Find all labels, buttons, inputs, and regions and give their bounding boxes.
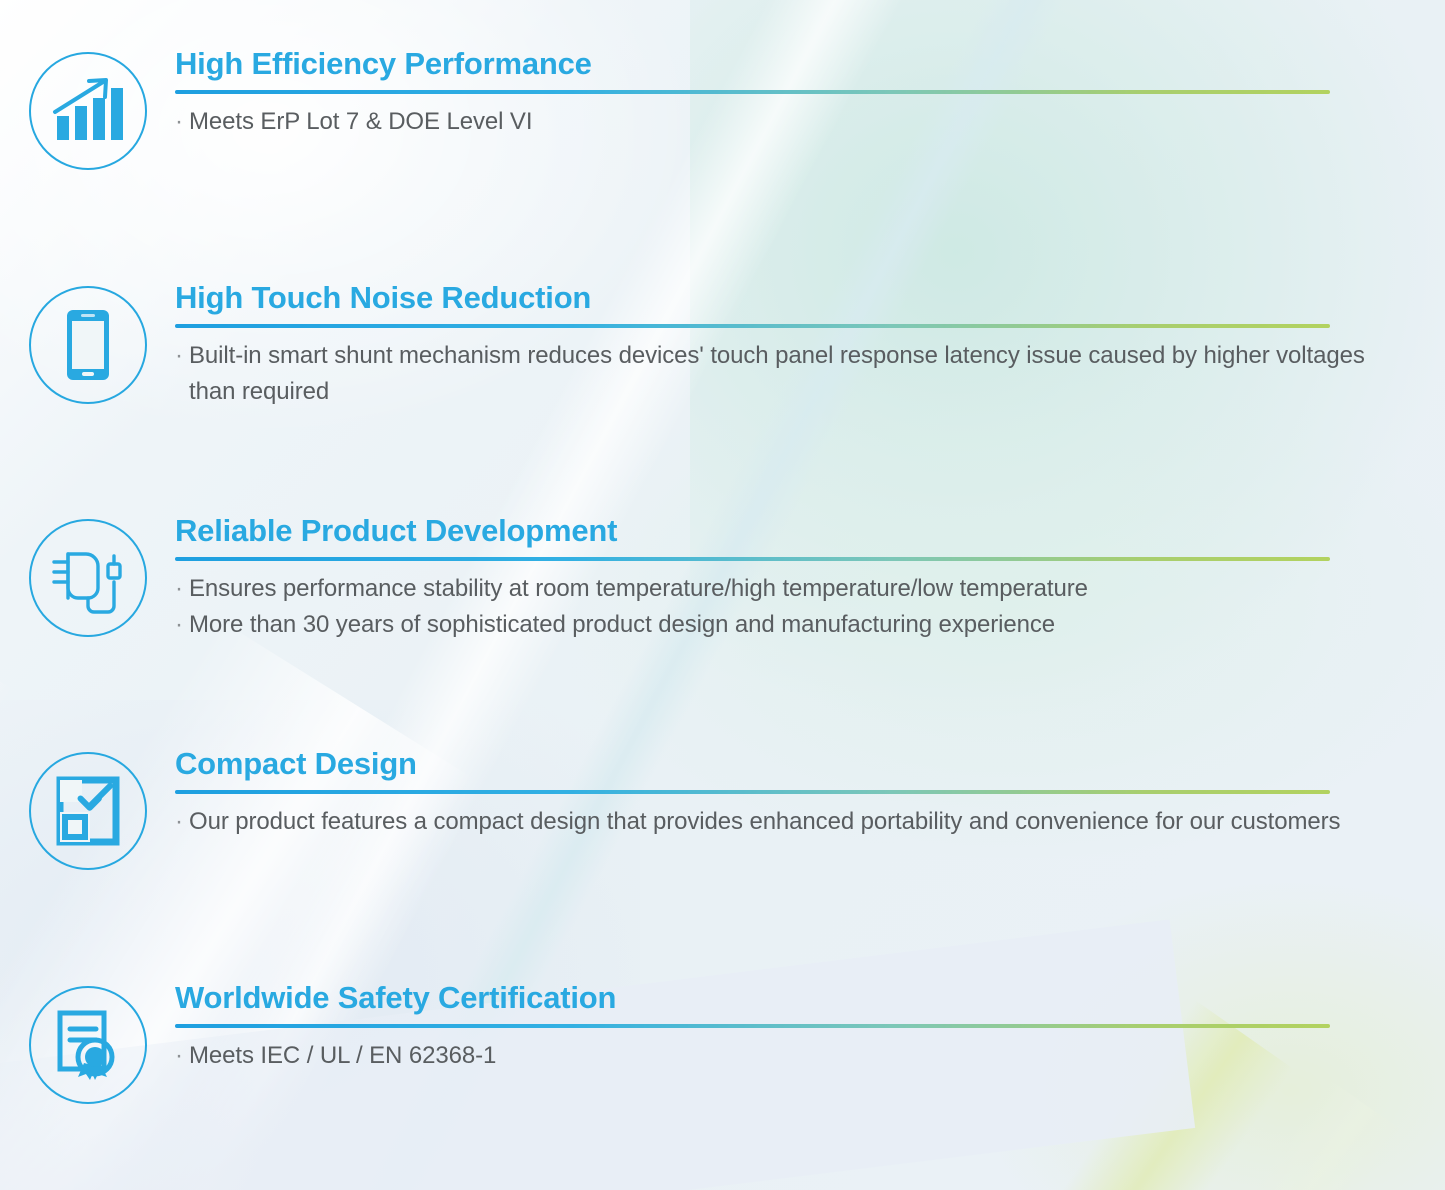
bullet-marker: · <box>175 571 189 608</box>
feature-bullet-list: ·Meets ErP Lot 7 & DOE Level VI <box>175 104 1365 141</box>
bullet-marker: · <box>175 607 189 644</box>
feature-text-block: High Touch Noise Reduction ·Built-in sma… <box>175 282 1445 411</box>
feature-bullet-list: ·Built-in smart shunt mechanism reduces … <box>175 338 1365 411</box>
feature-icon-container <box>0 515 175 637</box>
feature-text-block: Reliable Product Development ·Ensures pe… <box>175 515 1445 644</box>
feature-item-high-touch-noise-reduction: High Touch Noise Reduction ·Built-in sma… <box>0 282 1445 411</box>
feature-item-compact-design: Compact Design ·Our product features a c… <box>0 748 1445 870</box>
smartphone-icon <box>29 286 147 404</box>
feature-text-block: Worldwide Safety Certification ·Meets IE… <box>175 982 1445 1074</box>
feature-item-reliable-product-development: Reliable Product Development ·Ensures pe… <box>0 515 1445 644</box>
feature-icon-container <box>0 282 175 404</box>
feature-bullet-line: ·Meets IEC / UL / EN 62368-1 <box>175 1038 1365 1075</box>
feature-item-worldwide-safety-certification: Worldwide Safety Certification ·Meets IE… <box>0 982 1445 1104</box>
feature-icon-container <box>0 48 175 170</box>
feature-bullet-text: Our product features a compact design th… <box>189 804 1365 841</box>
feature-bullet-line: ·Our product features a compact design t… <box>175 804 1365 841</box>
feature-bullet-text: More than 30 years of sophisticated prod… <box>189 607 1365 644</box>
feature-bullet-line: ·Built-in smart shunt mechanism reduces … <box>175 338 1365 411</box>
feature-icon-container <box>0 748 175 870</box>
feature-bullet-list: ·Meets IEC / UL / EN 62368-1 <box>175 1038 1365 1075</box>
feature-bullet-list: ·Ensures performance stability at room t… <box>175 571 1365 644</box>
background-streak-3 <box>0 620 474 1190</box>
certificate-seal-icon <box>29 986 147 1104</box>
feature-bullet-line: ·Ensures performance stability at room t… <box>175 571 1365 608</box>
feature-title: High Efficiency Performance <box>175 48 1365 81</box>
bar-chart-growth-icon <box>29 52 147 170</box>
feature-bullet-list: ·Our product features a compact design t… <box>175 804 1365 841</box>
feature-text-block: High Efficiency Performance ·Meets ErP L… <box>175 48 1445 140</box>
feature-bullet-line: ·Meets ErP Lot 7 & DOE Level VI <box>175 104 1365 141</box>
bullet-marker: · <box>175 1038 189 1075</box>
bullet-marker: · <box>175 804 189 841</box>
feature-bullet-text: Meets IEC / UL / EN 62368-1 <box>189 1038 1365 1075</box>
bullet-marker: · <box>175 338 189 375</box>
feature-divider <box>175 790 1330 794</box>
compact-resize-icon <box>29 752 147 870</box>
feature-bullet-text: Built-in smart shunt mechanism reduces d… <box>189 338 1365 411</box>
feature-bullet-text: Meets ErP Lot 7 & DOE Level VI <box>189 104 1365 141</box>
feature-divider <box>175 557 1330 561</box>
feature-divider <box>175 324 1330 328</box>
feature-bullet-text: Ensures performance stability at room te… <box>189 571 1365 608</box>
feature-divider <box>175 90 1330 94</box>
feature-title: Compact Design <box>175 748 1365 781</box>
power-adapter-icon <box>29 519 147 637</box>
feature-text-block: Compact Design ·Our product features a c… <box>175 748 1445 840</box>
feature-bullet-line: ·More than 30 years of sophisticated pro… <box>175 607 1365 644</box>
feature-highlights-page: High Efficiency Performance ·Meets ErP L… <box>0 0 1445 1190</box>
bullet-marker: · <box>175 104 189 141</box>
feature-title: Reliable Product Development <box>175 515 1365 548</box>
feature-title: High Touch Noise Reduction <box>175 282 1365 315</box>
feature-divider <box>175 1024 1330 1028</box>
feature-item-high-efficiency-performance: High Efficiency Performance ·Meets ErP L… <box>0 48 1445 170</box>
feature-icon-container <box>0 982 175 1104</box>
feature-title: Worldwide Safety Certification <box>175 982 1365 1015</box>
